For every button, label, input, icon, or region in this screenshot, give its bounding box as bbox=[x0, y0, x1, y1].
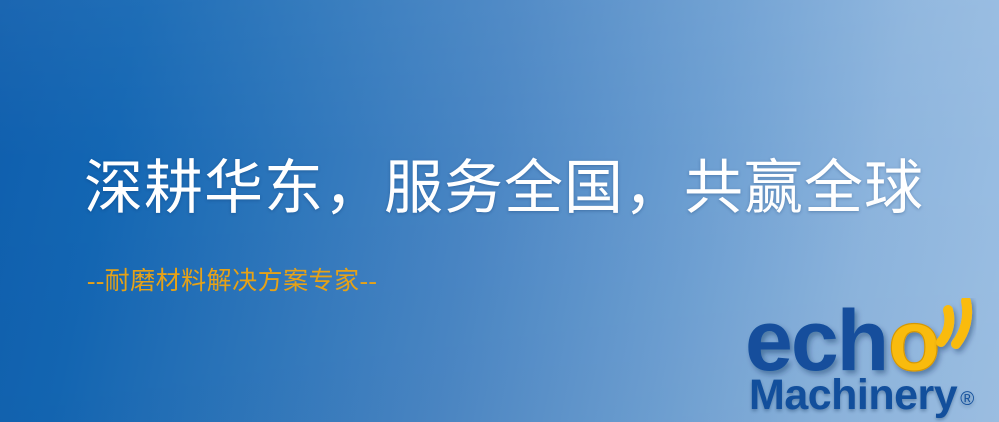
svg-text:o: o bbox=[888, 298, 941, 382]
logo-letter-o-accent: o bbox=[888, 298, 941, 382]
logo-letters-ech: ech bbox=[745, 298, 887, 382]
banner-headline: 深耕华东，服务全国，共赢全球 bbox=[84, 152, 924, 224]
promo-banner: 深耕华东，服务全国，共赢全球 --耐磨材料解决方案专家-- ech o bbox=[0, 0, 999, 422]
registered-trademark-icon: ® bbox=[960, 390, 974, 409]
logo-tagline-text: Machinery bbox=[749, 372, 957, 418]
svg-text:ech: ech bbox=[745, 298, 887, 382]
logo-tagline: Machinery ® bbox=[749, 372, 974, 418]
company-logo[interactable]: ech o Machinery ® bbox=[745, 298, 999, 422]
banner-subtitle: --耐磨材料解决方案专家-- bbox=[87, 265, 377, 299]
signal-waves-icon bbox=[941, 301, 967, 344]
logo-wordmark-echo: ech o bbox=[745, 298, 999, 382]
